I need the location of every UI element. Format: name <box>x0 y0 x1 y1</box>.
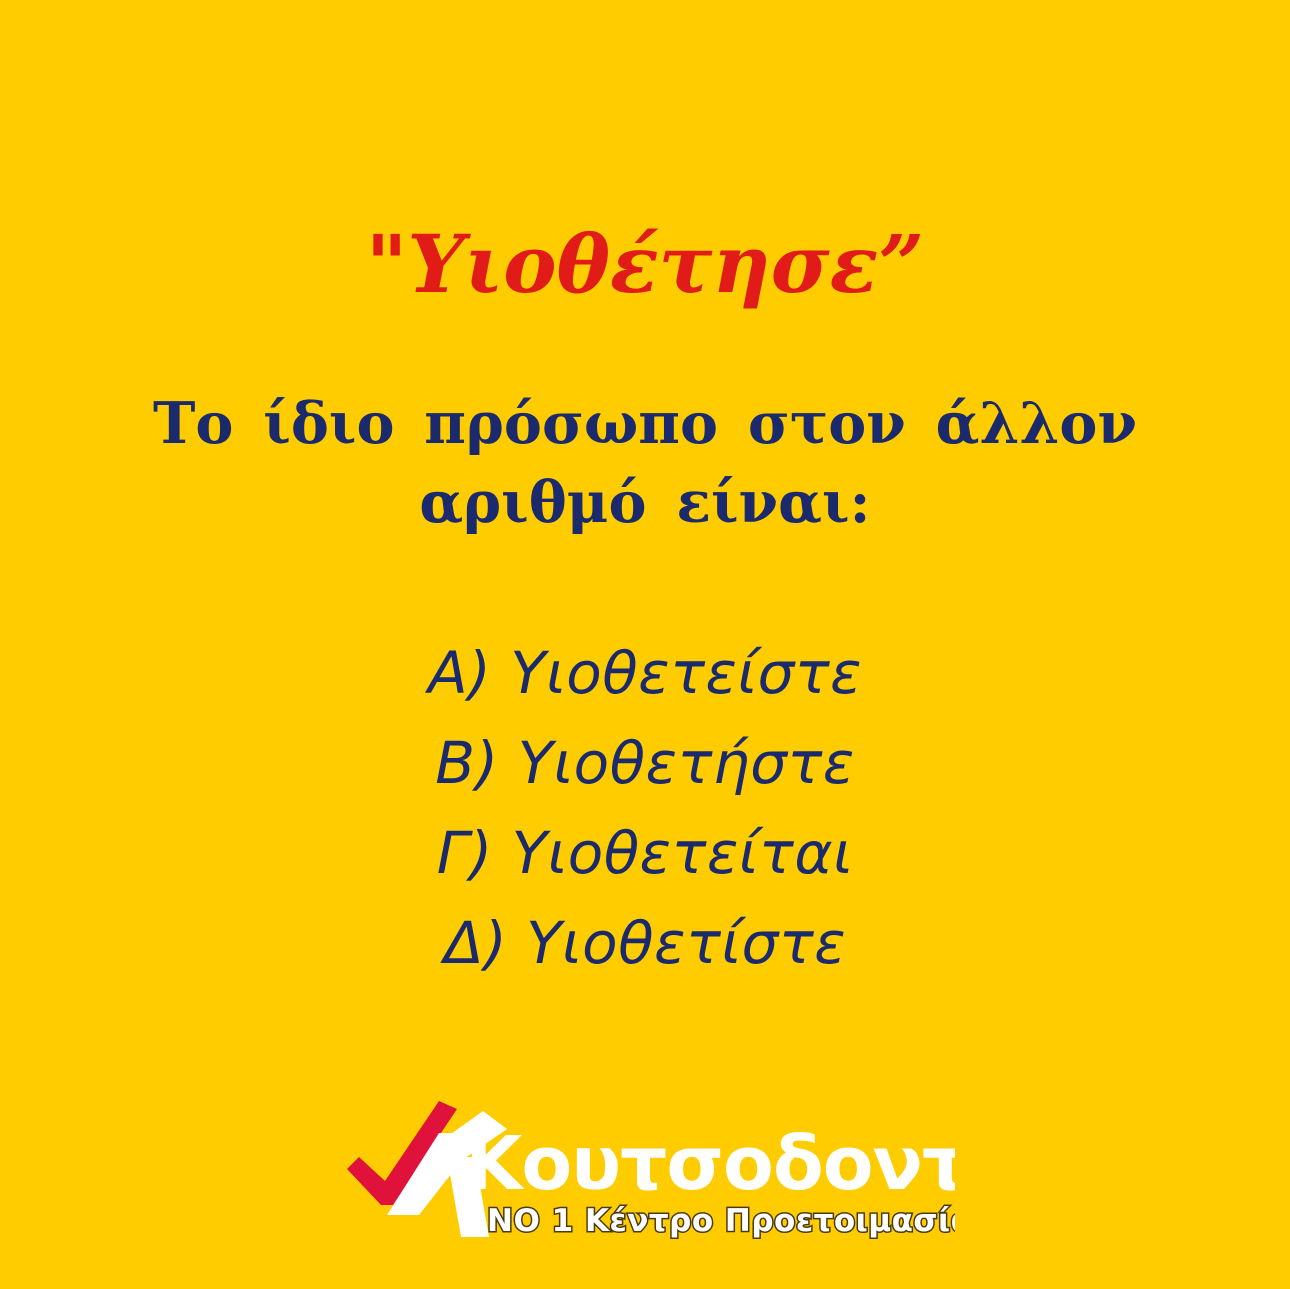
answer-option-c[interactable]: Γ) Υιοθετείται <box>0 808 1290 898</box>
answer-option-b[interactable]: Β) Υιοθετήστε <box>0 718 1290 808</box>
answer-option-d[interactable]: Δ) Υιοθετίστε <box>0 898 1290 988</box>
logo-wordmark: Κουτσοδοντης <box>465 1121 955 1207</box>
brand-logo: Κουτσοδοντης ΝΟ 1 Κέντρο Προετοιμασίας <box>0 1095 1290 1245</box>
logo-tagline: ΝΟ 1 Κέντρο Προετοιμασίας <box>487 1203 955 1239</box>
logo-graphic: Κουτσοδοντης ΝΟ 1 Κέντρο Προετοιμασίας <box>335 1095 955 1245</box>
question-prompt: Το ίδιο πρόσωπο στον άλλον αριθμό είναι: <box>0 385 1290 542</box>
page-title: "Υιοθέτησε” <box>0 222 1290 306</box>
question-prompt-line-2: αριθμό είναι: <box>0 464 1290 543</box>
answer-options-list: Α) Υιοθετείστε Β) Υιοθετήστε Γ) Υιοθετεί… <box>0 628 1290 988</box>
quiz-card: "Υιοθέτησε” Το ίδιο πρόσωπο στον άλλον α… <box>0 0 1290 1289</box>
question-prompt-line-1: Το ίδιο πρόσωπο στον άλλον <box>0 385 1290 464</box>
answer-option-a[interactable]: Α) Υιοθετείστε <box>0 628 1290 718</box>
